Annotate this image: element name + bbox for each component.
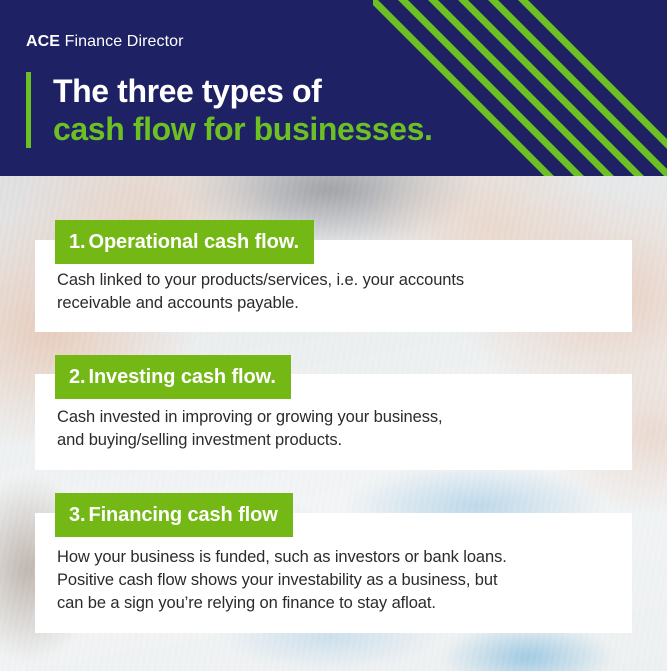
infographic-poster: ACE Finance Director The three types of … bbox=[0, 0, 667, 671]
block-1-body-line-1: Cash linked to your products/services, i… bbox=[57, 269, 610, 292]
block-3-heading-chip: 3.Financing cash flow bbox=[55, 493, 293, 537]
brand-name: Finance Director bbox=[60, 33, 184, 50]
block-2-heading-chip: 2.Investing cash flow. bbox=[55, 355, 291, 399]
block-2-body-line-1: Cash invested in improving or growing yo… bbox=[57, 406, 610, 429]
block-1-body: Cash linked to your products/services, i… bbox=[35, 269, 632, 315]
title-line-1: The three types of bbox=[53, 72, 432, 110]
block-3-number: 3. bbox=[69, 504, 85, 526]
block-1-number: 1. bbox=[69, 231, 85, 253]
block-2-heading-text: Investing cash flow. bbox=[88, 366, 275, 388]
block-3-body-line-3: can be a sign you’re relying on finance … bbox=[57, 592, 610, 615]
brand-logo: ACE Finance Director bbox=[26, 33, 184, 51]
block-1-body-line-2: receivable and accounts payable. bbox=[57, 292, 610, 315]
block-3-heading-text: Financing cash flow bbox=[88, 504, 277, 526]
block-2-body: Cash invested in improving or growing yo… bbox=[35, 406, 632, 452]
block-1-heading-text: Operational cash flow. bbox=[88, 231, 298, 253]
block-3-body-line-2: Positive cash flow shows your investabil… bbox=[57, 569, 610, 592]
block-2-body-line-2: and buying/selling investment products. bbox=[57, 429, 610, 452]
block-3-body: How your business is funded, such as inv… bbox=[35, 546, 632, 615]
brand-mark: ACE bbox=[26, 33, 60, 50]
title-lines: The three types of cash flow for busines… bbox=[53, 72, 432, 148]
page-title: The three types of cash flow for busines… bbox=[26, 72, 432, 148]
block-1-heading-chip: 1.Operational cash flow. bbox=[55, 220, 314, 264]
title-accent-bar bbox=[26, 72, 31, 148]
header-band: ACE Finance Director The three types of … bbox=[0, 0, 667, 176]
content-blocks: 1.Operational cash flow. Cash linked to … bbox=[0, 176, 667, 671]
title-line-2: cash flow for businesses. bbox=[53, 110, 432, 148]
block-2-number: 2. bbox=[69, 366, 85, 388]
block-3-body-line-1: How your business is funded, such as inv… bbox=[57, 546, 610, 569]
